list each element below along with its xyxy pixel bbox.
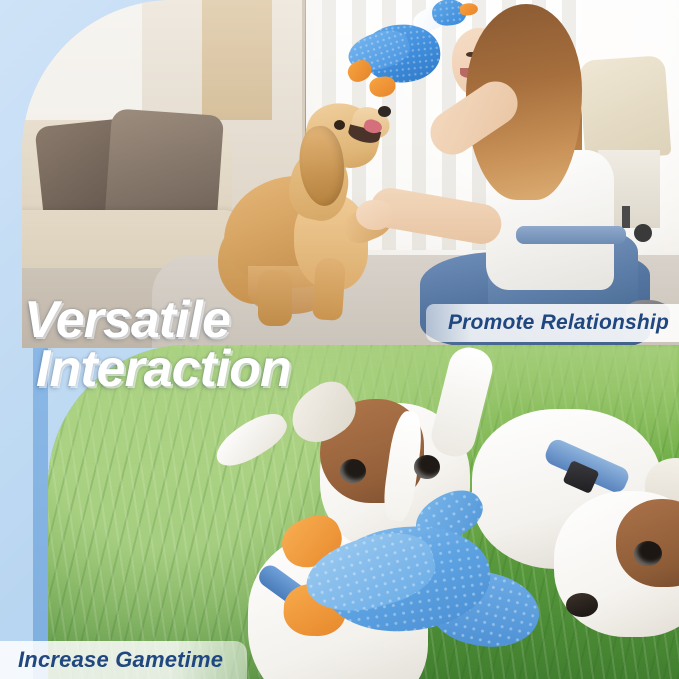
headline-line-2: Interaction [36, 345, 291, 394]
plush-duck-toy-top [335, 0, 478, 107]
dog2-eye [634, 541, 662, 566]
toy-foot-right [369, 75, 397, 98]
dog1-eye-right [414, 455, 440, 479]
girl-waistband [516, 226, 626, 244]
badge-top-label: Promote Relationship [448, 311, 669, 335]
badge-increase-gametime: Increase Gametime [0, 641, 247, 679]
dog-front-leg [312, 257, 346, 321]
dog-eye [334, 120, 345, 130]
dog1-eye-left [340, 459, 366, 483]
product-poster: Promote Relationship Increase Gametime V… [0, 0, 679, 679]
girl-hand [356, 200, 392, 230]
dog-nose [378, 106, 391, 117]
headline-line-1: Versatile [24, 296, 291, 345]
badge-bottom-label: Increase Gametime [18, 647, 223, 673]
headline: Versatile Interaction [24, 296, 291, 394]
badge-promote-relationship: Promote Relationship [426, 304, 679, 342]
